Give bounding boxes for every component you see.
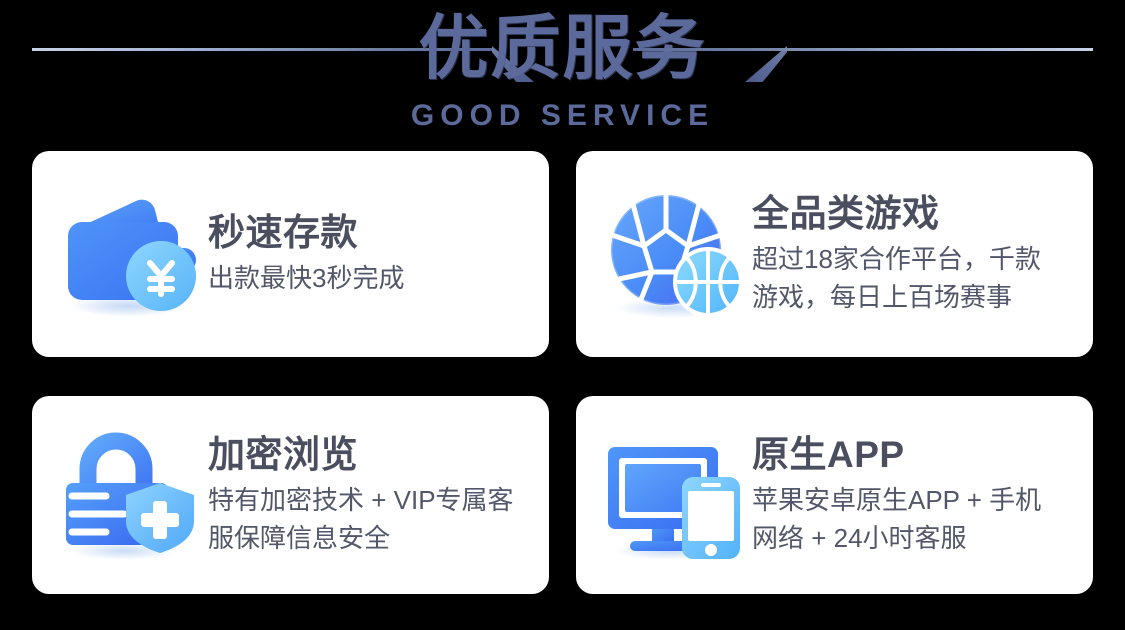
banner-header: 优质服务 GOOD SERVICE: [0, 0, 1125, 143]
feature-card-encryption[interactable]: 加密浏览 特有加密技术 + VIP专属客 服保障信息安全: [32, 396, 549, 594]
feature-card-native-app[interactable]: 原生APP 苹果安卓原生APP + 手机 网络 + 24小时客服: [576, 396, 1093, 594]
subtitle-line: 超过18家合作平台，千款: [752, 240, 1077, 278]
feature-card-subtitle: 特有加密技术 + VIP专属客 服保障信息安全: [208, 481, 533, 557]
feature-card-title: 原生APP: [752, 433, 1077, 477]
subtitle-line: 特有加密技术 + VIP专属客: [208, 481, 533, 519]
feature-card-text: 加密浏览 特有加密技术 + VIP专属客 服保障信息安全: [204, 433, 533, 557]
subtitle-line: 苹果安卓原生APP + 手机: [752, 481, 1077, 519]
page-subtitle: GOOD SERVICE: [0, 98, 1125, 134]
monitor-phone-icon: [602, 425, 748, 565]
feature-card-text: 原生APP 苹果安卓原生APP + 手机 网络 + 24小时客服: [748, 433, 1077, 557]
feature-card-subtitle: 出款最快3秒完成: [208, 259, 533, 297]
feature-card-title: 秒速存款: [208, 211, 533, 255]
feature-card-subtitle: 超过18家合作平台，千款 游戏，每日上百场赛事: [752, 240, 1077, 316]
subtitle-line: 网络 + 24小时客服: [752, 519, 1077, 557]
feature-card-title: 加密浏览: [208, 433, 533, 477]
subtitle-line: 游戏，每日上百场赛事: [752, 278, 1077, 316]
wallet-yen-icon: [58, 184, 204, 324]
feature-card-games[interactable]: 全品类游戏 超过18家合作平台，千款 游戏，每日上百场赛事: [576, 151, 1093, 357]
feature-card-subtitle: 苹果安卓原生APP + 手机 网络 + 24小时客服: [752, 481, 1077, 557]
feature-card-title: 全品类游戏: [752, 192, 1077, 236]
decorative-rule-right: [633, 48, 1093, 51]
feature-card-grid: 秒速存款 出款最快3秒完成: [32, 151, 1093, 594]
feature-card-text: 秒速存款 出款最快3秒完成: [204, 211, 533, 297]
good-service-banner: 优质服务 GOOD SERVICE: [0, 0, 1125, 630]
feature-card-deposit[interactable]: 秒速存款 出款最快3秒完成: [32, 151, 549, 357]
feature-card-text: 全品类游戏 超过18家合作平台，千款 游戏，每日上百场赛事: [748, 192, 1077, 316]
subtitle-line: 服保障信息安全: [208, 519, 533, 557]
subtitle-line: 出款最快3秒完成: [208, 259, 533, 297]
soccer-basketball-icon: [602, 184, 748, 324]
lock-shield-icon: [58, 425, 204, 565]
